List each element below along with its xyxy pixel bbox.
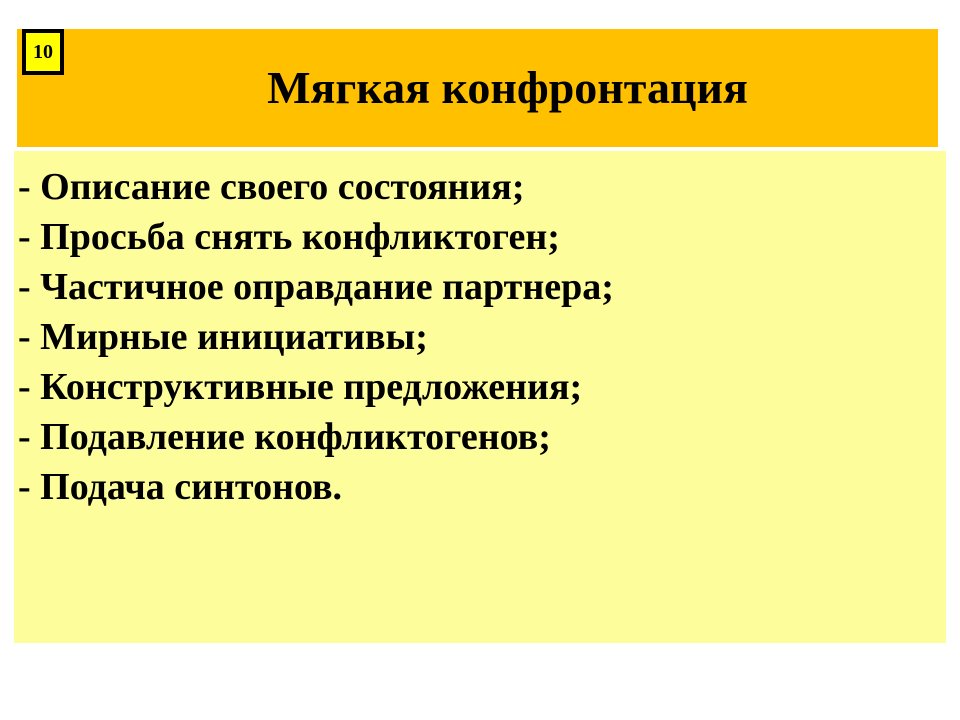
list-item: - Подавление конфликтогенов; (18, 412, 942, 462)
slide-body-panel: - Описание своего состояния; - Просьба с… (14, 151, 946, 643)
bullet-list: - Описание своего состояния; - Просьба с… (18, 162, 942, 512)
list-item: - Описание своего состояния; (18, 162, 942, 212)
list-item: - Подача синтонов. (18, 462, 942, 512)
list-item: - Частичное оправдание партнера; (18, 262, 942, 312)
list-item: - Конструктивные предложения; (18, 362, 942, 412)
presentation-slide: Мягкая конфронтация 10 - Описание своего… (0, 0, 960, 720)
list-item: - Просьба снять конфликтоген; (18, 212, 942, 262)
page-title: Мягкая конфронтация (77, 29, 938, 147)
slide-number-text: 10 (33, 42, 53, 62)
slide-header-band: Мягкая конфронтация (17, 29, 938, 147)
slide-number-badge: 10 (22, 29, 64, 75)
list-item: - Мирные инициативы; (18, 312, 942, 362)
